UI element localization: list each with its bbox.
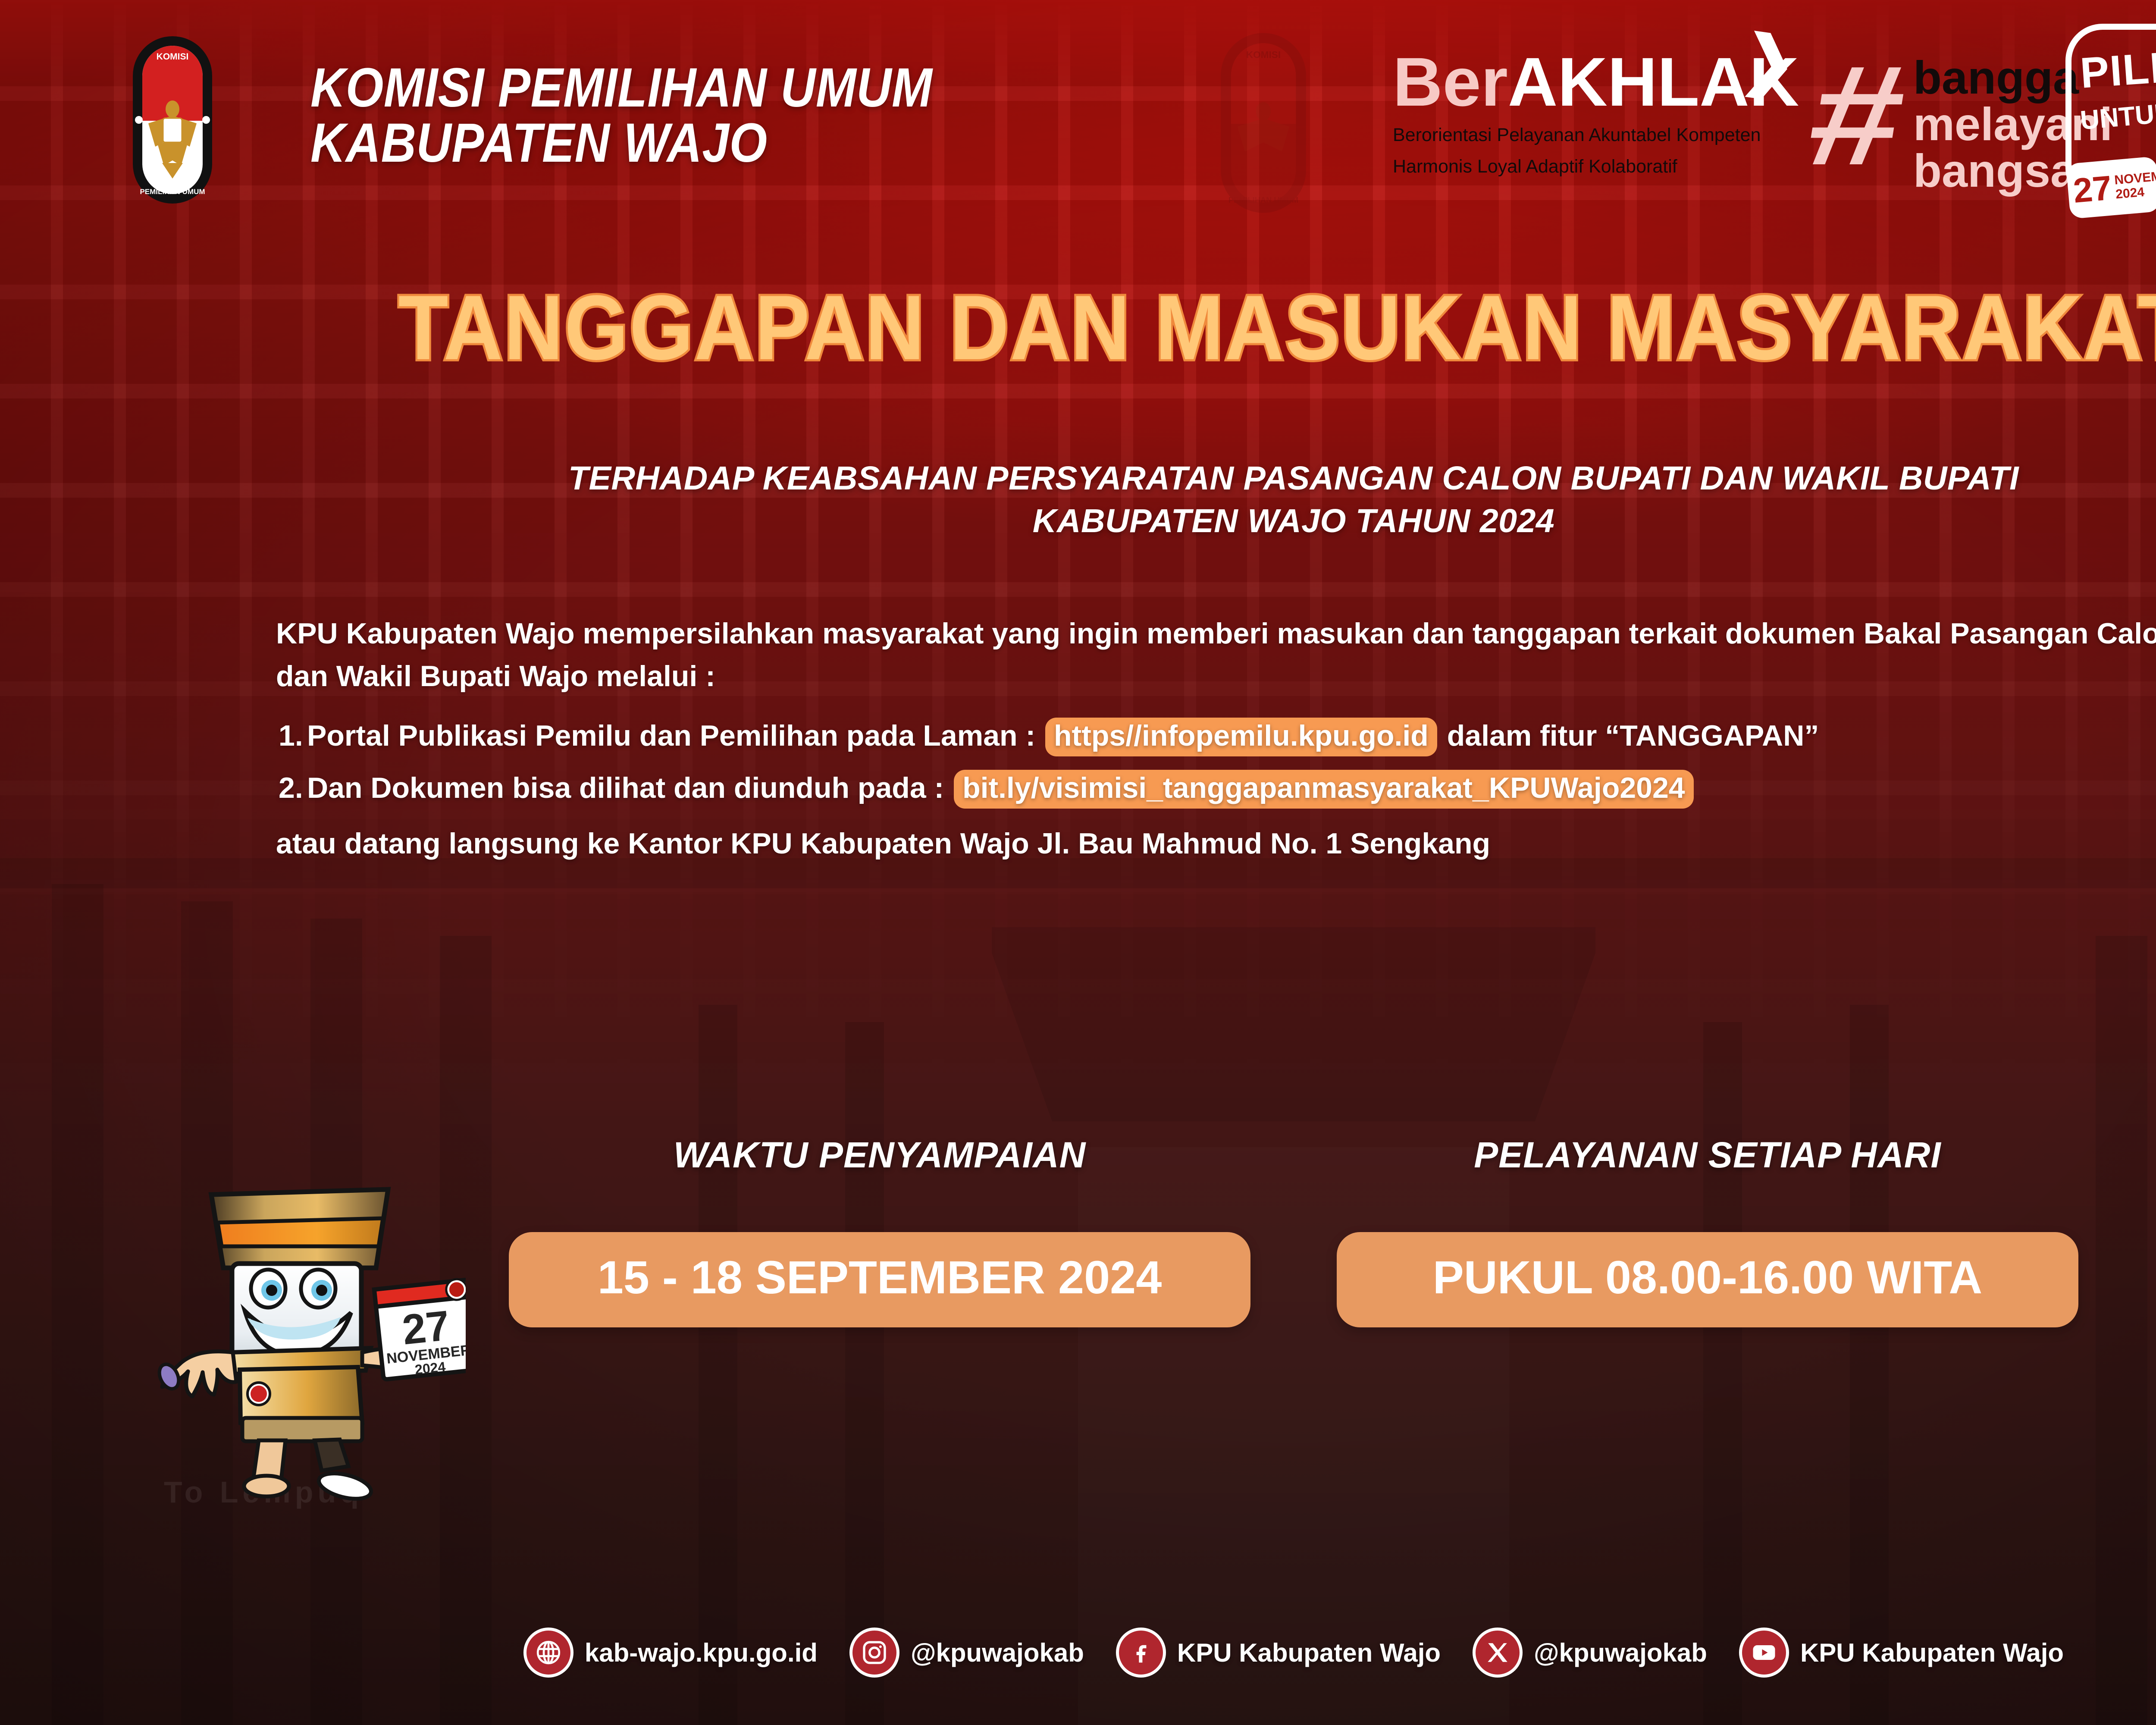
- mascot-left-calendar-year: 2024: [414, 1359, 446, 1377]
- berakhlak-values-line2: Harmonis Loyal Adaptif Kolaboratif: [1393, 154, 1794, 179]
- bangga-melayani-bangsa-logo: # bangga melayani bangsa: [1822, 34, 2063, 206]
- info-section: WAKTU PENYAMPAIAN 15 - 18 SEPTEMBER 2024…: [509, 1134, 2078, 1327]
- intro-line1: KPU Kabupaten Wajo mempersilahkan masyar…: [276, 617, 1717, 650]
- svg-text:KOMISI: KOMISI: [1246, 50, 1281, 60]
- info-column-waktu: WAKTU PENYAMPAIAN 15 - 18 SEPTEMBER 2024: [509, 1134, 1250, 1327]
- kpu-logo: KOMISI PEMILIHAN UMUM: [129, 34, 216, 206]
- x-twitter-icon: [1473, 1628, 1523, 1678]
- poster: KOMISI PEMILIHAN UMUM KOMISI PEMILIHAN U…: [0, 0, 2156, 1725]
- pelayanan-setiap-hari-value: PUKUL 08.00-16.00 WITA: [1337, 1232, 2078, 1327]
- pilkada-month: NOVEMBER: [2114, 167, 2156, 188]
- svg-text:PEMILIHAN UMUM: PEMILIHAN UMUM: [140, 188, 205, 196]
- page-title: TANGGAPAN DAN MASUKAN MASYARAKAT: [0, 275, 2156, 380]
- kpu-watermark-logo: KOMISI PEMILIHAN UMUM: [1173, 30, 1354, 216]
- org-title-line1: KOMISI PEMILIHAN UMUM: [310, 60, 1069, 116]
- pilkada-day: 27: [2072, 172, 2113, 206]
- social-youtube-label: KPU Kabupaten Wajo: [1800, 1638, 2064, 1668]
- intro-paragraph: KPU Kabupaten Wajo mempersilahkan masyar…: [276, 612, 2156, 698]
- header: KOMISI PEMILIHAN UMUM KOMISI PEMILIHAN U…: [0, 0, 2156, 241]
- list-item: 1. Portal Publikasi Pemilu dan Pemilihan…: [307, 715, 2156, 757]
- social-youtube[interactable]: KPU Kabupaten Wajo: [1739, 1628, 2064, 1678]
- list-item-1-text-second-line: “TANGGAPAN”: [1605, 719, 1819, 752]
- social-instagram[interactable]: @kpuwajokab: [849, 1628, 1084, 1678]
- info-column-pelayanan: PELAYANAN SETIAP HARI PUKUL 08.00-16.00 …: [1337, 1134, 2078, 1327]
- social-x-twitter-label: @kpuwajokab: [1534, 1638, 1707, 1668]
- subtitle-line1: TERHADAP KEABSAHAN PERSYARATAN PASANGAN …: [0, 457, 2156, 500]
- pilkada-untuk-kita-logo: PILKADA UNTUK KITA 27 NOVEMBER 2024: [2065, 24, 2156, 205]
- org-title-line2: KABUPATEN WAJO: [310, 116, 1069, 171]
- social-x-twitter[interactable]: @kpuwajokab: [1473, 1628, 1707, 1678]
- subtitle-line2: KABUPATEN WAJO TAHUN 2024: [0, 500, 2156, 543]
- social-instagram-label: @kpuwajokab: [911, 1638, 1084, 1668]
- pilkada-year: 2024: [2115, 185, 2145, 202]
- infopemilu-link[interactable]: https//infopemilu.kpu.go.id: [1045, 718, 1437, 756]
- social-facebook[interactable]: KPU Kabupaten Wajo: [1116, 1628, 1441, 1678]
- mascot-to-lempuq: 27 NOVEMBER 2024: [129, 1182, 466, 1570]
- svg-text:KOMISI: KOMISI: [157, 52, 189, 62]
- pilkada-month-year: NOVEMBER 2024: [2114, 167, 2156, 202]
- social-website[interactable]: kab-wajo.kpu.go.id: [523, 1628, 818, 1678]
- social-facebook-label: KPU Kabupaten Wajo: [1177, 1638, 1441, 1668]
- page-subtitle: TERHADAP KEABSAHAN PERSYARATAN PASANGAN …: [0, 457, 2156, 542]
- list-item-1-number: 1.: [279, 715, 303, 757]
- waktu-penyampaian-label: WAKTU PENYAMPAIAN: [509, 1134, 1250, 1176]
- instruction-list: 1. Portal Publikasi Pemilu dan Pemilihan…: [307, 715, 2156, 810]
- bitly-document-link[interactable]: bit.ly/visimisi_tanggapanmasyarakat_KPUW…: [954, 770, 1694, 809]
- body-copy: KPU Kabupaten Wajo mempersilahkan masyar…: [276, 612, 2156, 865]
- svg-text:PEMILIHAN UMUM: PEMILIHAN UMUM: [1228, 195, 1298, 204]
- hash-icon: #: [1802, 51, 1913, 179]
- globe-icon: [523, 1628, 573, 1678]
- berakhlak-prefix: Ber: [1393, 43, 1508, 120]
- organization-title: KOMISI PEMILIHAN UMUM KABUPATEN WAJO: [310, 60, 1069, 171]
- pelayanan-setiap-hari-label: PELAYANAN SETIAP HARI: [1337, 1134, 2078, 1176]
- list-item-1-text-before: Portal Publikasi Pemilu dan Pemilihan pa…: [307, 719, 1035, 752]
- social-website-label: kab-wajo.kpu.go.id: [585, 1638, 818, 1668]
- pilkada-date-tag: 27 NOVEMBER 2024: [2066, 156, 2156, 219]
- list-item-2-text-before: Dan Dokumen bisa dilihat dan diunduh pad…: [307, 772, 944, 804]
- list-item: 2. Dan Dokumen bisa dilihat dan diunduh …: [307, 767, 2156, 809]
- berakhlak-wordmark: BerAKHLAK ❯: [1393, 47, 1794, 116]
- mascot-wa-bajo: PILKADA KAB. WAJO 27 NOV 2024: [2147, 1160, 2156, 1565]
- instagram-icon: [849, 1628, 899, 1678]
- berakhlak-logo: BerAKHLAK ❯ Berorientasi Pelayanan Akunt…: [1393, 47, 1794, 180]
- office-address-line: atau datang langsung ke Kantor KPU Kabup…: [276, 822, 2156, 865]
- berakhlak-values-line1: Berorientasi Pelayanan Akuntabel Kompete…: [1393, 122, 1794, 148]
- facebook-icon: [1116, 1628, 1166, 1678]
- waktu-penyampaian-value: 15 - 18 SEPTEMBER 2024: [509, 1232, 1250, 1327]
- list-item-1-text-after: dalam fitur: [1447, 719, 1597, 752]
- berakhlak-caret-icon: ❯: [1738, 25, 1800, 97]
- youtube-icon: [1739, 1628, 1789, 1678]
- list-item-2-number: 2.: [279, 767, 303, 809]
- footer-social-bar: kab-wajo.kpu.go.id @kpuwajokab KPU Kabup…: [0, 1628, 2156, 1678]
